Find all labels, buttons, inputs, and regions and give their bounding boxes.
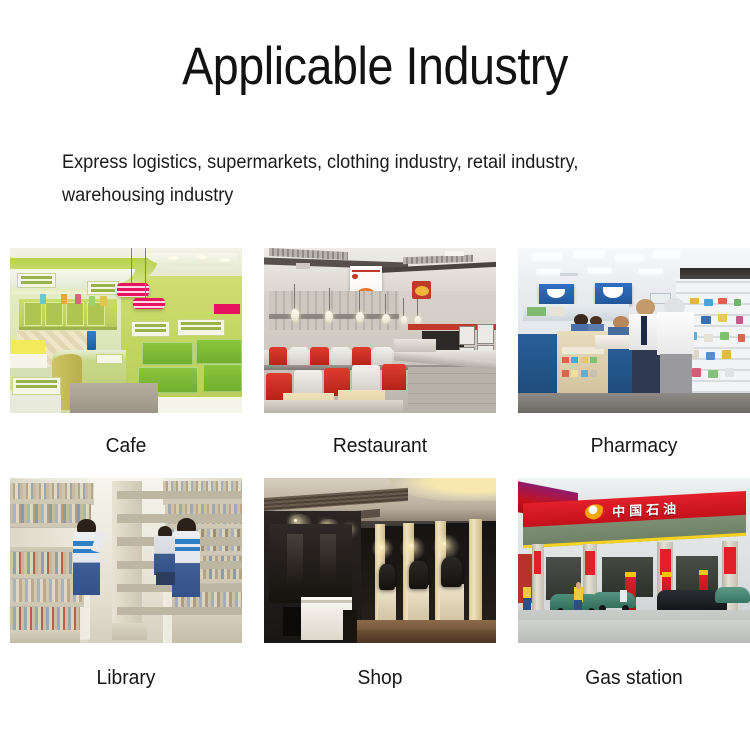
gallery-cell-restaurant: Restaurant <box>264 248 496 478</box>
photo-pharmacy <box>518 248 750 413</box>
caption-pharmacy: Pharmacy <box>525 413 743 478</box>
caption-library: Library <box>17 643 235 713</box>
applicable-industry-page: Applicable Industry Express logistics, s… <box>0 0 750 750</box>
gallery-row: Cafe <box>10 248 740 478</box>
gallery-cell-cafe: Cafe <box>10 248 242 478</box>
photo-cafe <box>10 248 242 413</box>
page-title: Applicable Industry <box>45 36 705 98</box>
photo-gas-station: 中国石油 <box>518 478 750 643</box>
industry-gallery: Cafe <box>10 248 740 713</box>
caption-cafe: Cafe <box>17 413 235 478</box>
gallery-cell-gas-station: 中国石油 <box>518 478 750 713</box>
photo-shop <box>264 478 496 643</box>
gallery-row: Library <box>10 478 740 713</box>
caption-shop: Shop <box>271 643 489 713</box>
photo-library <box>10 478 242 643</box>
caption-gas-station: Gas station <box>525 643 743 713</box>
caption-restaurant: Restaurant <box>271 413 489 478</box>
gallery-cell-pharmacy: Pharmacy <box>518 248 750 478</box>
photo-restaurant <box>264 248 496 413</box>
page-subtitle: Express logistics, supermarkets, clothin… <box>62 146 667 212</box>
gallery-cell-library: Library <box>10 478 242 713</box>
gallery-cell-shop: Shop <box>264 478 496 713</box>
